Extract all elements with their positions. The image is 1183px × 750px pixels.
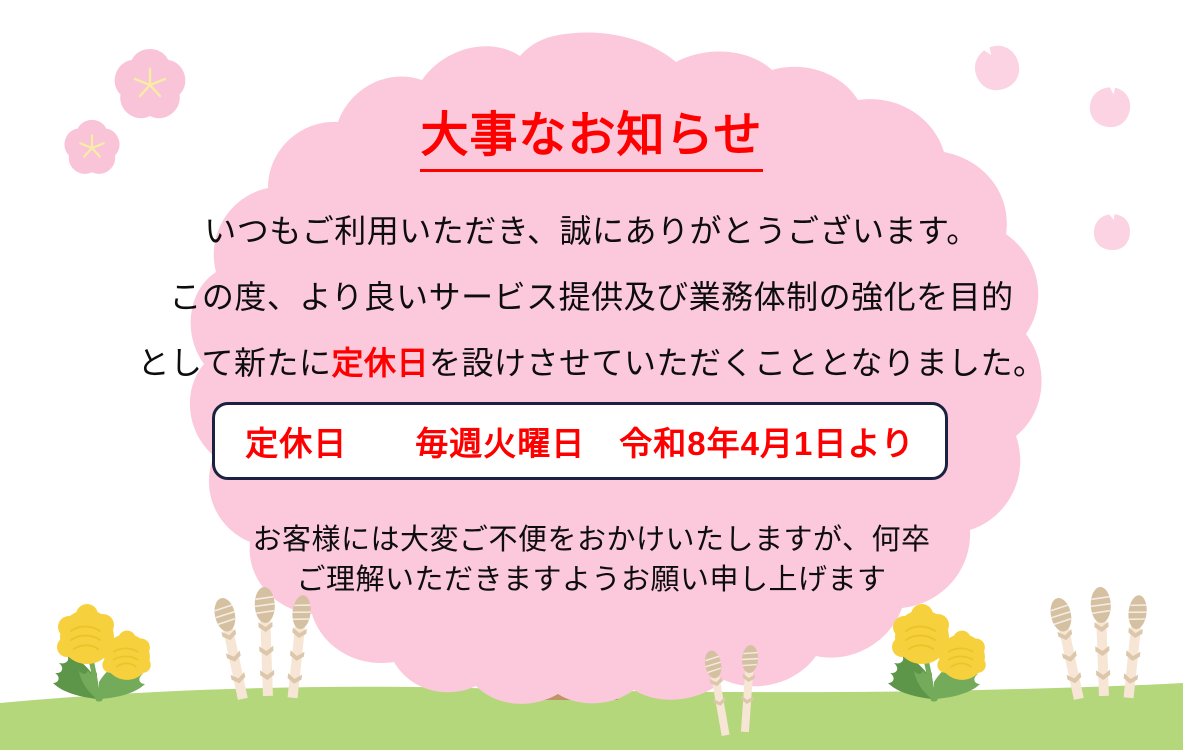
closed-day-highlight: 定休日	[331, 345, 429, 381]
announcement-poster: 大事なお知らせ いつもご利用いただき、誠にありがとうございます。 この度、より良…	[0, 0, 1183, 750]
body-line-1: いつもご利用いただき、誠にありがとうございます。	[0, 206, 1183, 252]
regular-holiday-notice-text: 定休日 毎週火曜日 令和8年4月1日より	[245, 417, 914, 465]
regular-holiday-notice-box: 定休日 毎週火曜日 令和8年4月1日より	[212, 402, 948, 480]
body-line-3: として新たに定休日を設けさせていただくこととなりました。	[0, 338, 1183, 384]
poster-text-content: 大事なお知らせ いつもご利用いただき、誠にありがとうございます。 この度、より良…	[0, 0, 1183, 750]
body-line-2: この度、より良いサービス提供及び業務体制の強化を目的	[0, 272, 1183, 318]
body-line-3-prefix: として新たに	[137, 345, 331, 381]
page-title: 大事なお知らせ	[0, 106, 1183, 172]
closing-line-2: ご理解いただきますようお願い申し上げます	[0, 556, 1183, 598]
body-line-3-suffix: を設けさせていただくこととなりました。	[429, 345, 1046, 381]
closing-line-1: お客様には大変ご不便をおかけいたしますが、何卒	[0, 516, 1183, 558]
page-title-text: 大事なお知らせ	[420, 106, 762, 172]
